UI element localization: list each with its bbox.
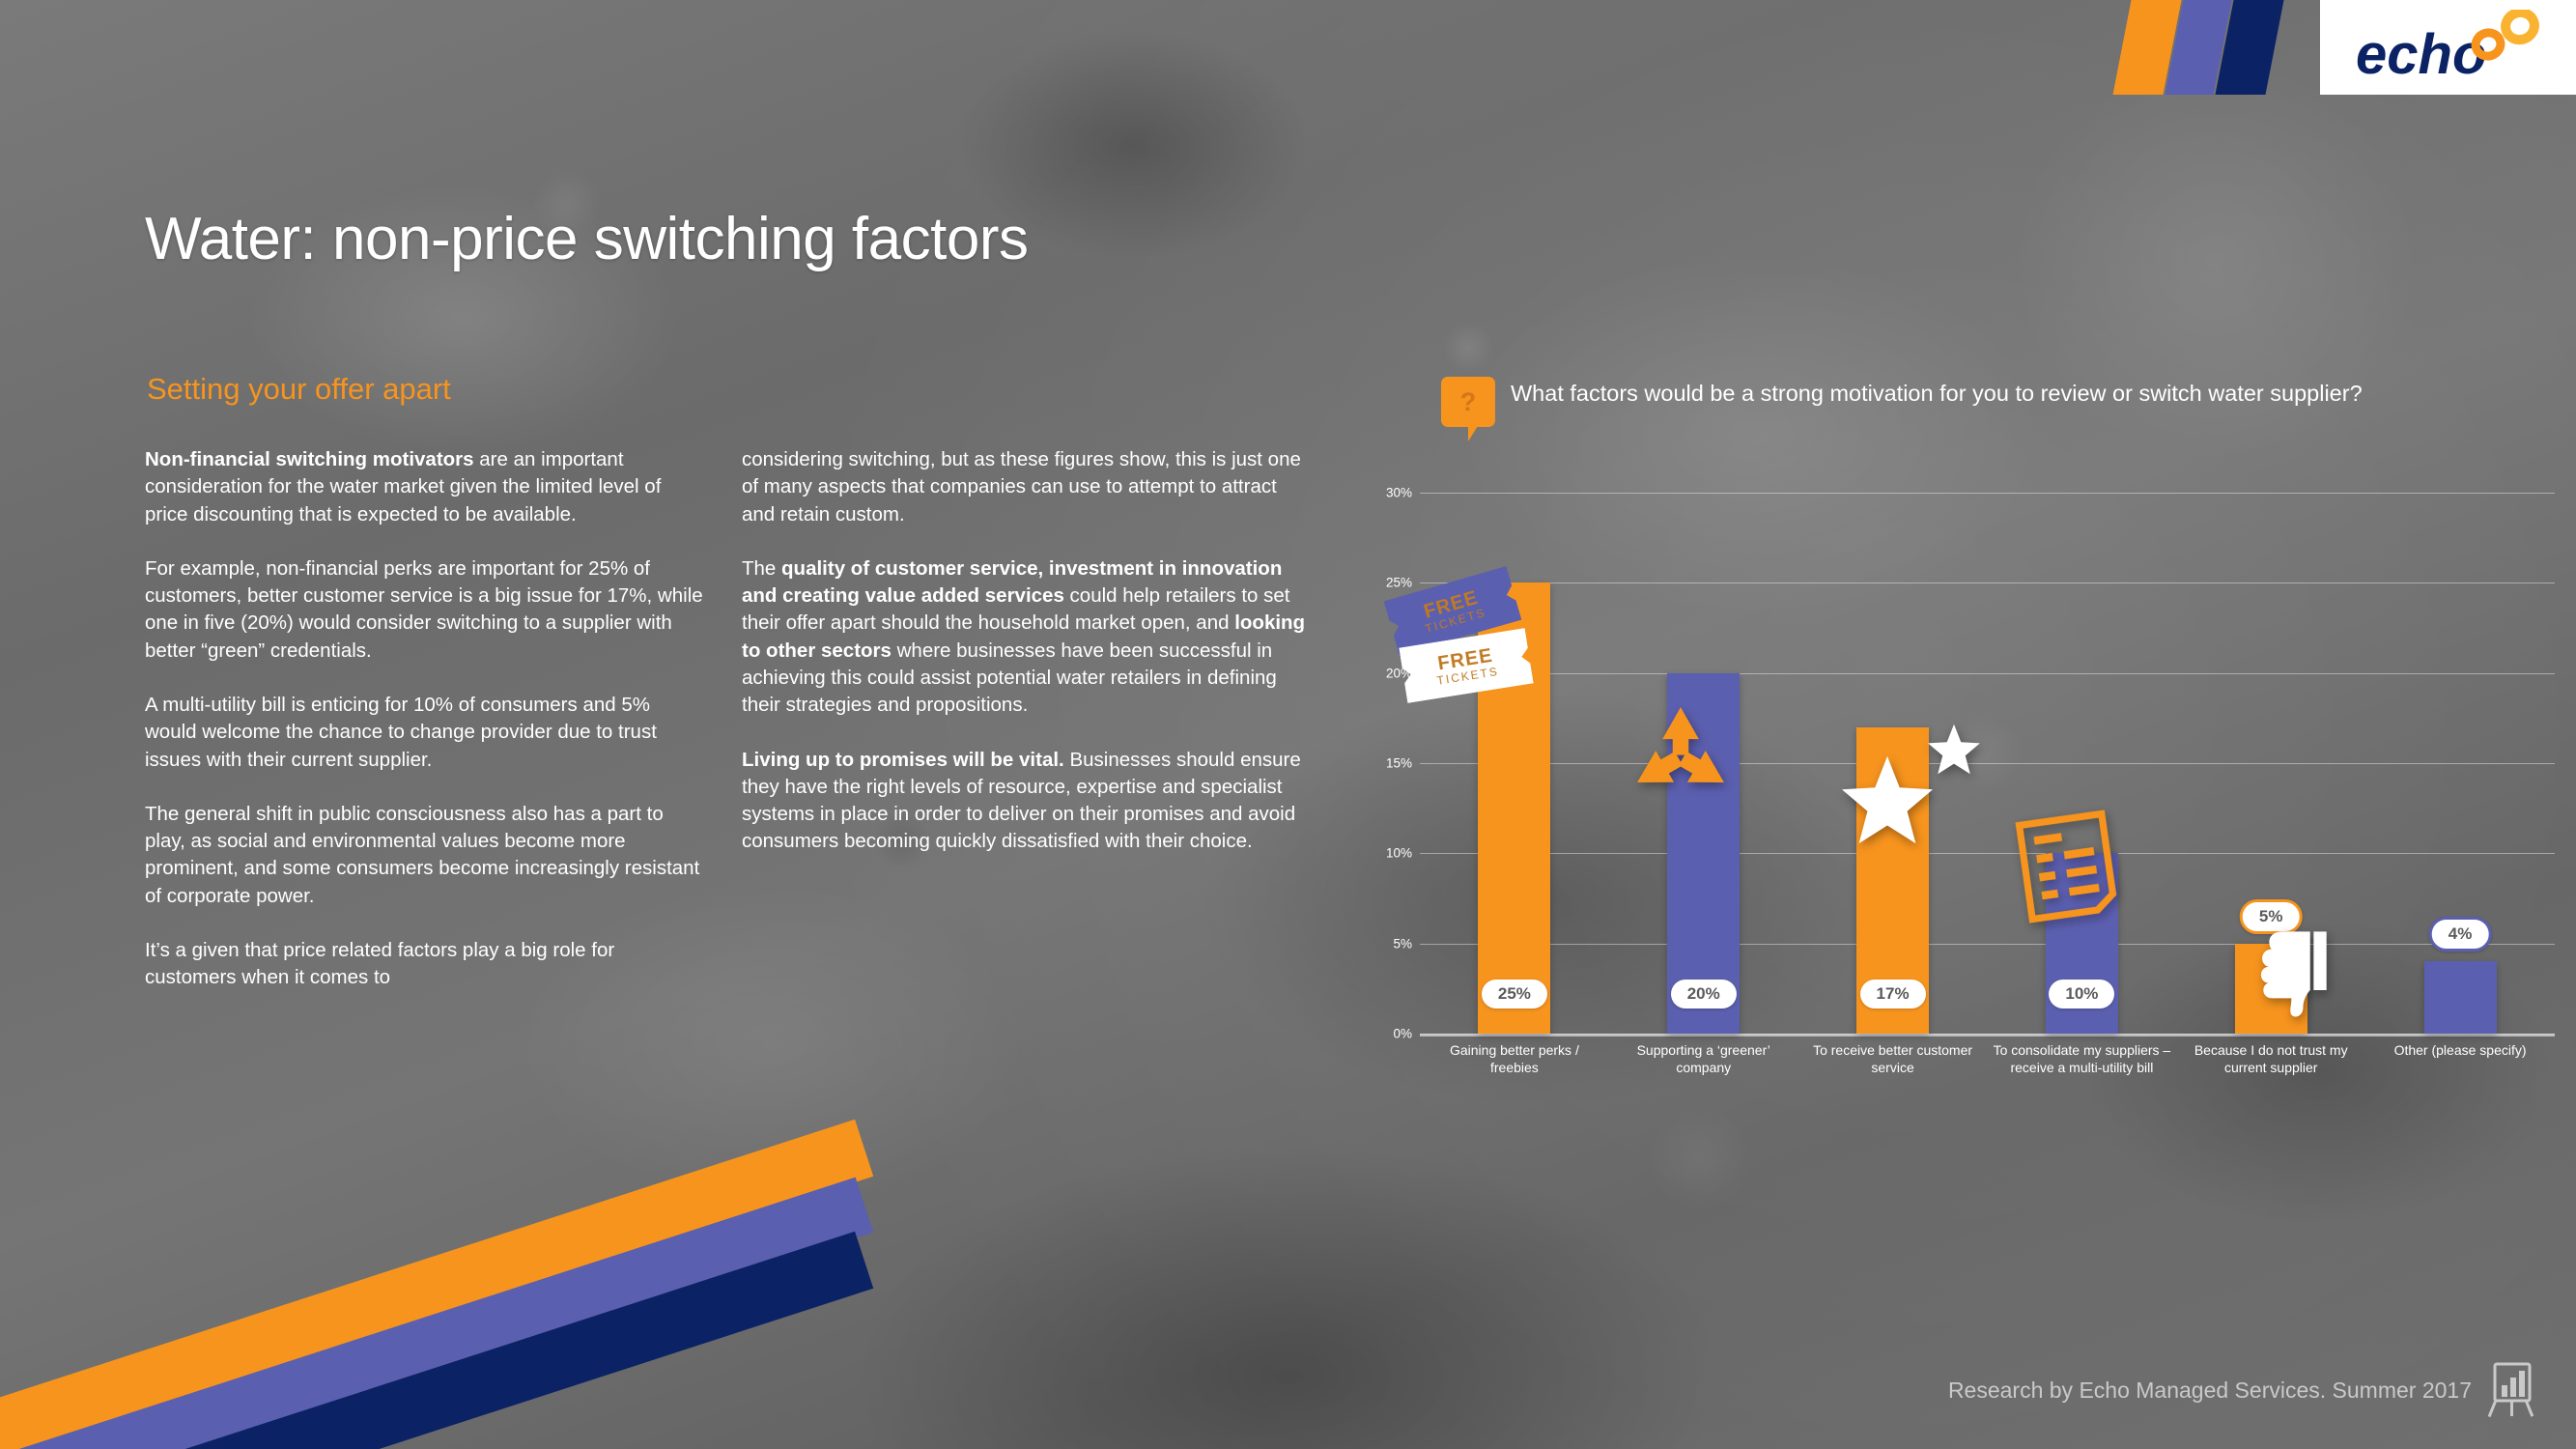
bar-slot: 10% xyxy=(1987,493,2176,1034)
paragraph-text: For example, non-financial perks are imp… xyxy=(145,557,703,662)
y-axis-tick-label: 0% xyxy=(1354,1027,1412,1041)
paragraph-text: A multi-utility bill is enticing for 10%… xyxy=(145,694,657,771)
y-axis-tick-label: 20% xyxy=(1354,666,1412,680)
bar-value-label: 17% xyxy=(1860,980,1926,1009)
chart-bars: 25%20%17%10%5%4% xyxy=(1420,493,2555,1034)
bar-value-label: 10% xyxy=(2049,980,2114,1009)
x-axis-category-label: To receive better customer service xyxy=(1798,1041,1988,1077)
chart-baseline xyxy=(1420,1034,2555,1037)
paragraph-lead: Living up to promises will be vital. xyxy=(742,749,1064,771)
x-axis-category-label: Other (please specify) xyxy=(2365,1041,2555,1077)
chart-bar[interactable]: 25% xyxy=(1478,582,1550,1034)
x-axis-category-label: Gaining better perks / freebies xyxy=(1420,1041,1609,1077)
bar-slot: 25% xyxy=(1420,493,1609,1034)
x-axis-category-label: To consolidate my suppliers – receive a … xyxy=(1987,1041,2176,1077)
bar-value-label: 5% xyxy=(2240,899,2303,934)
x-axis-category-label: Because I do not trust my current suppli… xyxy=(2176,1041,2365,1077)
bar-chart: 0%5%10%15%20%25%30% 25%20%17%10%5%4% FRE… xyxy=(1352,493,2564,1034)
paragraph-text: The general shift in public consciousnes… xyxy=(145,803,699,907)
flipchart-icon xyxy=(2485,1362,2535,1418)
chart-bar[interactable]: 4% xyxy=(2424,961,2497,1034)
y-axis-tick-label: 5% xyxy=(1354,936,1412,951)
body-column-left: Non-financial switching motivators are a… xyxy=(145,446,707,1019)
y-axis-tick-label: 15% xyxy=(1354,756,1412,771)
chart-bar[interactable]: 5% xyxy=(2235,944,2307,1034)
chart-x-axis-labels: Gaining better perks / freebiesSupportin… xyxy=(1420,1041,2555,1077)
paragraph-text: It’s a given that price related factors … xyxy=(145,939,614,988)
x-axis-category-label: Supporting a ‘greener’ company xyxy=(1609,1041,1798,1077)
paragraph: For example, non-financial perks are imp… xyxy=(145,555,707,665)
page-title: Water: non-price switching factors xyxy=(145,205,1028,273)
body-column-right: considering switching, but as these figu… xyxy=(742,446,1312,883)
echo-logo-mark: echo xyxy=(2352,10,2545,85)
chart-bar[interactable]: 10% xyxy=(2046,853,2118,1034)
paragraph: considering switching, but as these figu… xyxy=(742,446,1312,528)
echo-logo: echo xyxy=(2320,0,2576,95)
bar-slot: 5% xyxy=(2176,493,2365,1034)
question-mark-icon: ? xyxy=(1441,377,1495,427)
svg-text:echo: echo xyxy=(2356,23,2486,85)
bar-value-label: 20% xyxy=(1671,980,1737,1009)
y-axis-tick-label: 25% xyxy=(1354,576,1412,590)
chart-bar[interactable]: 17% xyxy=(1856,727,1929,1034)
bar-value-label: 4% xyxy=(2429,917,2492,952)
footer-credit: Research by Echo Managed Services. Summe… xyxy=(1948,1378,2472,1404)
y-axis-tick-label: 10% xyxy=(1354,846,1412,861)
chart-bar[interactable]: 20% xyxy=(1667,673,1740,1034)
chart-panel: ? What factors would be a strong motivat… xyxy=(1352,377,2564,1150)
question-badge-glyph: ? xyxy=(1460,387,1477,417)
bar-slot: 4% xyxy=(2365,493,2555,1034)
bar-slot: 17% xyxy=(1798,493,1988,1034)
chart-question-text: What factors would be a strong motivatio… xyxy=(1511,377,2363,408)
paragraph-text: The xyxy=(742,557,781,580)
paragraph-text: considering switching, but as these figu… xyxy=(742,448,1301,526)
paragraph: A multi-utility bill is enticing for 10%… xyxy=(145,692,707,774)
bar-slot: 20% xyxy=(1609,493,1798,1034)
paragraph-lead: Non-financial switching motivators xyxy=(145,448,474,470)
paragraph: Non-financial switching motivators are a… xyxy=(145,446,707,528)
section-subtitle: Setting your offer apart xyxy=(147,372,451,407)
bar-value-label: 25% xyxy=(1482,980,1547,1009)
y-axis-tick-label: 30% xyxy=(1354,486,1412,500)
paragraph: The general shift in public consciousnes… xyxy=(145,801,707,910)
paragraph: The quality of customer service, investm… xyxy=(742,555,1312,720)
paragraph: It’s a given that price related factors … xyxy=(145,937,707,992)
chart-question-row: ? What factors would be a strong motivat… xyxy=(1352,377,2564,427)
paragraph: Living up to promises will be vital. Bus… xyxy=(742,747,1312,856)
footer: Research by Echo Managed Services. Summe… xyxy=(1948,1362,2535,1418)
